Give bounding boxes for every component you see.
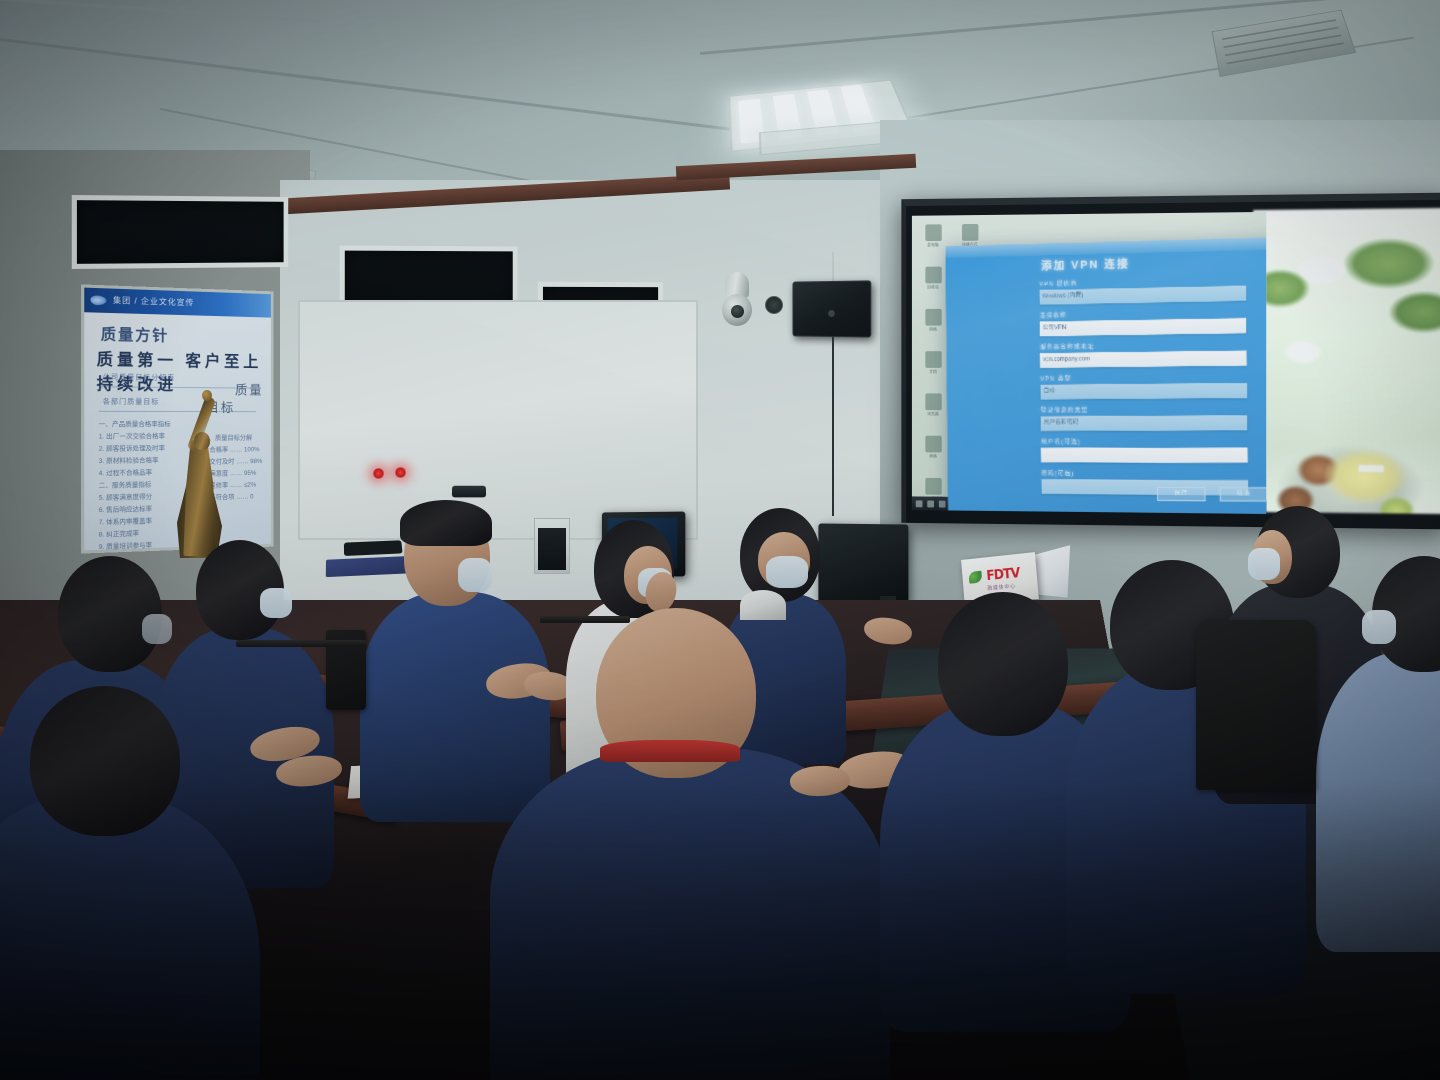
face-mask — [142, 614, 172, 644]
chair-rail-1 — [236, 640, 366, 647]
dialog-buttons: 保存 取消 — [1157, 487, 1266, 502]
bronze-statue — [168, 388, 230, 556]
field-vpn-type[interactable]: VPN 类型 自动 — [1040, 372, 1247, 400]
vpn-type-select[interactable]: 自动 — [1040, 383, 1247, 400]
signin-type-select[interactable]: 用户名和密码 — [1041, 415, 1248, 431]
meeting-room-photo: 集团 / 企业文化宣传 质量方针 质量第一 客户至上 持续改进 公司质量目标分解… — [0, 0, 1440, 1080]
face-mask — [1248, 548, 1280, 580]
wall-clock — [765, 296, 783, 314]
face-mask — [458, 558, 492, 592]
save-button[interactable]: 保存 — [1157, 487, 1205, 501]
desk-phone — [344, 540, 403, 556]
browser-icon[interactable]: 浏览器 — [916, 393, 951, 432]
whiteboard — [298, 300, 698, 540]
wall-cable — [832, 336, 834, 516]
vpn-dialog[interactable]: 添加 VPN 连接 VPN 提供商 Windows (内置) 连接名称 公司VP… — [945, 236, 1266, 514]
desktop-wallpaper — [1253, 208, 1440, 514]
chair-back-2 — [1196, 620, 1316, 790]
red-collar — [600, 740, 740, 762]
field-vpn-provider[interactable]: VPN 提供商 Windows (内置) — [1039, 275, 1246, 305]
vpn-provider-input[interactable]: Windows (内置) — [1039, 286, 1246, 305]
projection-screen: 此电脑 回收站 网络 文档 浏览器 表格 PDF阅读器 应用 快捷方式 邮件 企… — [901, 193, 1440, 530]
field-connection-name[interactable]: 连接名称 公司VPN — [1040, 307, 1247, 336]
chair-rail-2 — [540, 616, 630, 623]
excel-icon[interactable]: 表格 — [916, 436, 951, 476]
red-led-indicator-1 — [372, 468, 385, 479]
leaf-icon — [968, 571, 982, 584]
fdtv-subtitle: 融媒体中心 — [987, 583, 1016, 592]
poster-banner: 集团 / 企业文化宣传 — [84, 288, 271, 318]
windows-desktop: 此电脑 回收站 网络 文档 浏览器 表格 PDF阅读器 应用 快捷方式 邮件 企… — [912, 212, 1266, 514]
taskbar-app-1[interactable] — [939, 500, 946, 507]
field-server-address[interactable]: 服务器名称或地址 vpn.company.com — [1040, 339, 1247, 368]
red-led-indicator-2 — [394, 467, 407, 478]
poster-label-quality: 质量 — [235, 380, 263, 399]
wall-mounted-speaker — [792, 280, 871, 337]
desktop-monitor — [818, 523, 908, 604]
username-input[interactable] — [1041, 448, 1248, 463]
server-address-input[interactable]: vpn.company.com — [1040, 350, 1247, 367]
folder-icon[interactable]: 文档 — [916, 351, 951, 390]
cabinet-front-panel — [538, 528, 566, 570]
start-button[interactable] — [916, 500, 923, 507]
connection-name-input[interactable]: 公司VPN — [1040, 318, 1247, 336]
cancel-button[interactable]: 取消 — [1220, 487, 1267, 501]
wall-sensor-box — [452, 486, 486, 498]
ptz-surveillance-camera — [722, 272, 752, 328]
face-mask — [766, 556, 808, 588]
dialog-title: 添加 VPN 连接 — [1041, 255, 1130, 273]
poster-section-1: 公司质量目标分解表 — [103, 372, 175, 383]
face-mask — [1362, 610, 1396, 644]
poster-heading: 质量方针 — [101, 323, 169, 346]
field-signin-type[interactable]: 登录信息的类型 用户名和密码 — [1041, 404, 1248, 431]
face-mask — [260, 588, 292, 618]
dialog-titlebar[interactable] — [945, 236, 1266, 258]
taskbar-search-icon[interactable] — [927, 500, 934, 507]
poster-section-2: 各部门质量目标 — [103, 397, 159, 407]
wallpaper-watermark — [1357, 464, 1384, 472]
fdtv-logo: FDTV — [986, 566, 1020, 584]
field-username[interactable]: 用户名(可选) — [1041, 437, 1248, 463]
air-conditioning-vent — [1212, 10, 1357, 77]
dark-window-1 — [72, 195, 288, 269]
